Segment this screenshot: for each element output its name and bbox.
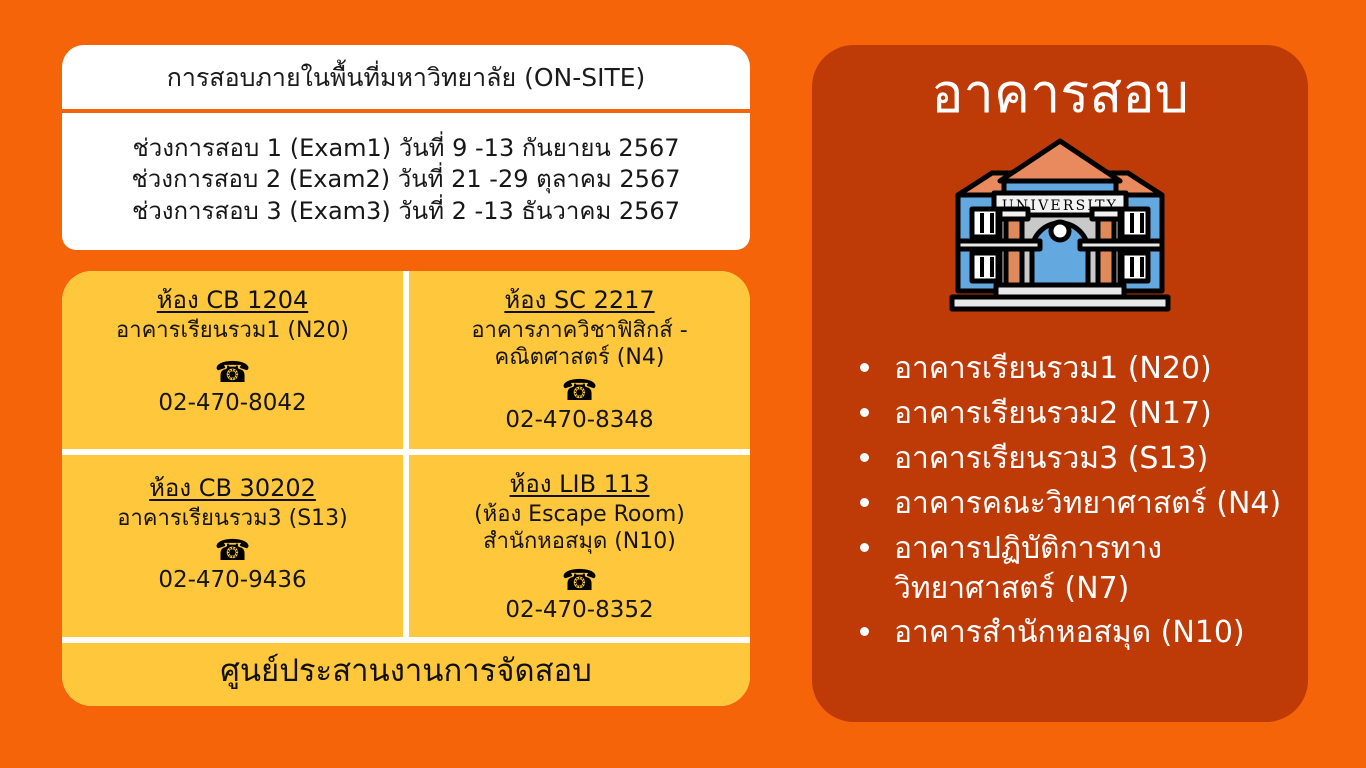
bullet-icon bbox=[860, 453, 869, 462]
building-label: อาคารเรียนรวม1 (N20) bbox=[894, 349, 1290, 389]
building-list-item[interactable]: อาคารปฏิบัติการทาง วิทยาศาสตร์ (N7) bbox=[856, 529, 1290, 609]
exam-buildings-title: อาคารสอบ bbox=[812, 63, 1308, 125]
building-list-item[interactable]: อาคารเรียนรวม1 (N20) bbox=[856, 349, 1290, 389]
room-title: ห้อง SC 2217 bbox=[504, 285, 654, 315]
exam-date-line: ช่วงการสอบ 1 (Exam1) วันที่ 9 -13 กันยาย… bbox=[72, 133, 740, 165]
university-banner-text: UNIVERSITY bbox=[1002, 198, 1118, 214]
exam-date-line: ช่วงการสอบ 2 (Exam2) วันที่ 21 -29 ตุลาค… bbox=[72, 164, 740, 196]
university-building-icon: UNIVERSITY bbox=[812, 133, 1308, 323]
room-title: ห้อง LIB 113 bbox=[510, 469, 650, 499]
room-building: อาคารเรียนรวม1 (N20) bbox=[116, 317, 349, 345]
room-card-cb-30202[interactable]: ห้อง CB 30202 อาคารเรียนรวม3 (S13) ☎ 02-… bbox=[62, 455, 403, 637]
building-list-item[interactable]: อาคารคณะวิทยาศาสตร์ (N4) bbox=[856, 484, 1290, 524]
telephone-icon: ☎ bbox=[561, 566, 597, 595]
building-list-item[interactable]: อาคารเรียนรวม3 (S13) bbox=[856, 439, 1290, 479]
room-title: ห้อง CB 1204 bbox=[157, 285, 309, 315]
room-card-cb-1204[interactable]: ห้อง CB 1204 อาคารเรียนรวม1 (N20) ☎ 02-4… bbox=[62, 271, 403, 449]
telephone-icon: ☎ bbox=[561, 376, 597, 405]
room-building: อาคารภาควิชาฟิสิกส์ - bbox=[471, 317, 687, 345]
building-label: อาคารสำนักหอสมุด (N10) bbox=[894, 613, 1290, 653]
exam-buildings-panel: อาคารสอบ bbox=[812, 45, 1308, 722]
building-list-item[interactable]: อาคารสำนักหอสมุด (N10) bbox=[856, 613, 1290, 653]
exam-dates-list: ช่วงการสอบ 1 (Exam1) วันที่ 9 -13 กันยาย… bbox=[62, 113, 750, 250]
room-building: อาคารเรียนรวม3 (S13) bbox=[117, 505, 348, 533]
bullet-icon bbox=[860, 408, 869, 417]
exam-buildings-list: อาคารเรียนรวม1 (N20) อาคารเรียนรวม2 (N17… bbox=[812, 349, 1308, 653]
building-label: อาคารเรียนรวม3 (S13) bbox=[894, 439, 1290, 479]
telephone-icon: ☎ bbox=[214, 536, 250, 565]
bullet-icon bbox=[860, 363, 869, 372]
room-phone-number[interactable]: 02-470-8352 bbox=[505, 596, 653, 625]
university-building-svg: UNIVERSITY bbox=[944, 135, 1176, 321]
room-note: (ห้อง Escape Room) bbox=[474, 501, 685, 529]
left-column: การสอบภายในพื้นที่มหาวิทยาลัย (ON-SITE) … bbox=[62, 45, 750, 706]
building-label: อาคารปฏิบัติการทาง วิทยาศาสตร์ (N7) bbox=[894, 529, 1290, 609]
coordination-center-label: ศูนย์ประสานงานการจัดสอบ bbox=[72, 653, 740, 690]
room-phone-number[interactable]: 02-470-8042 bbox=[158, 389, 306, 418]
exam-date-line: ช่วงการสอบ 3 (Exam3) วันที่ 2 -13 ธันวาค… bbox=[72, 196, 740, 228]
building-label: อาคารเรียนรวม2 (N17) bbox=[894, 394, 1290, 434]
telephone-icon: ☎ bbox=[214, 358, 250, 387]
bullet-icon bbox=[860, 543, 869, 552]
coordination-center-bar: ศูนย์ประสานงานการจัดสอบ bbox=[62, 643, 750, 706]
bullet-icon bbox=[860, 627, 869, 636]
room-card-sc-2217[interactable]: ห้อง SC 2217 อาคารภาควิชาฟิสิกส์ - คณิตศ… bbox=[409, 271, 750, 449]
room-building-line2: คณิตศาสตร์ (N4) bbox=[495, 344, 665, 372]
rooms-row: ห้อง CB 30202 อาคารเรียนรวม3 (S13) ☎ 02-… bbox=[62, 455, 750, 637]
room-card-lib-113[interactable]: ห้อง LIB 113 (ห้อง Escape Room) สำนักหอส… bbox=[409, 455, 750, 637]
room-building: สำนักหอสมุด (N10) bbox=[483, 528, 676, 556]
rooms-grid-panel: ห้อง CB 1204 อาคารเรียนรวม1 (N20) ☎ 02-4… bbox=[62, 271, 750, 706]
rooms-row: ห้อง CB 1204 อาคารเรียนรวม1 (N20) ☎ 02-4… bbox=[62, 271, 750, 449]
exam-header-card: การสอบภายในพื้นที่มหาวิทยาลัย (ON-SITE) … bbox=[62, 45, 750, 250]
building-list-item[interactable]: อาคารเรียนรวม2 (N17) bbox=[856, 394, 1290, 434]
building-label: อาคารคณะวิทยาศาสตร์ (N4) bbox=[894, 484, 1290, 524]
room-phone-number[interactable]: 02-470-9436 bbox=[158, 566, 306, 595]
room-title: ห้อง CB 30202 bbox=[149, 473, 316, 503]
page-title: การสอบภายในพื้นที่มหาวิทยาลัย (ON-SITE) bbox=[62, 45, 750, 109]
room-phone-number[interactable]: 02-470-8348 bbox=[505, 406, 653, 435]
bullet-icon bbox=[860, 498, 869, 507]
